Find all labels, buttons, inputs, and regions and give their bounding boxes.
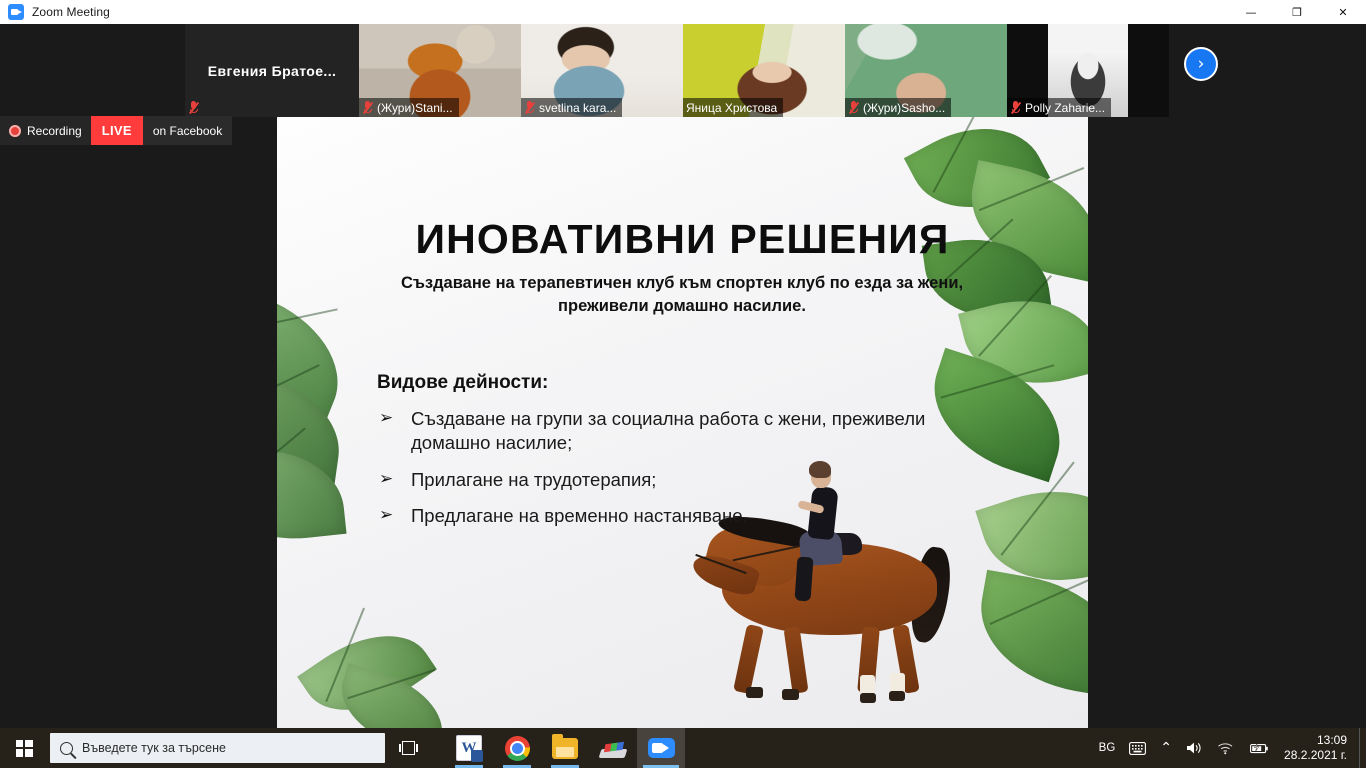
scanner-icon [600,738,626,758]
mic-muted-icon [188,100,199,115]
chevron-right-icon: › [1198,54,1205,74]
meeting-content-area: Евгения Братое... (Жури)Stani... svetlin [0,24,1366,728]
taskbar-app-scanner[interactable] [589,728,637,768]
system-tray: BG ⌃ [1092,728,1366,768]
battery-charging-icon[interactable] [1241,728,1276,768]
language-indicator[interactable]: BG [1092,728,1123,768]
zoom-video-icon [8,4,24,20]
participant-name: Евгения Братое... [185,24,359,117]
record-dot-icon [9,125,21,137]
clock[interactable]: 13:09 28.2.2021 г. [1276,728,1359,768]
wifi-glyph [1217,742,1234,755]
participant-status: (Жури)Sasho... [845,98,951,117]
live-platform-label: on Facebook [143,116,232,145]
live-badge: LIVE [91,116,143,145]
taskbar-app-word[interactable]: W [445,728,493,768]
volume-glyph [1186,741,1203,755]
shared-screen-slide[interactable]: ИНОВАТИВНИ РЕШЕНИЯ Създаване на терапевт… [277,117,1088,728]
file-explorer-icon [552,738,578,759]
list-item-text: Предлагане на временно настаняване. [411,505,748,526]
windows-taskbar: Въведете тук за търсене W [0,728,1366,768]
bullet-arrow-icon: ➢ [379,407,393,429]
battery-glyph [1248,742,1269,755]
slide-subtitle: Създаване на терапевтичен клуб към спорт… [382,272,982,319]
taskbar-app-file-explorer[interactable] [541,728,589,768]
minimize-button[interactable]: — [1228,0,1274,24]
task-view-button[interactable] [385,728,431,768]
participant-status: svetlina kara... [521,98,622,117]
list-item: ➢ Предлагане на временно настаняване. [377,504,937,528]
start-button[interactable] [0,728,48,768]
recording-indicator[interactable]: Recording [0,116,91,145]
participant-tile[interactable]: svetlina kara... [521,24,683,117]
show-desktop-button[interactable] [1359,728,1366,768]
participant-name: Polly Zaharie... [1025,101,1105,115]
mic-muted-icon [524,100,535,115]
taskbar-app-zoom[interactable] [637,728,685,768]
slide-bullet-list: ➢ Създаване на групи за социална работа … [377,407,937,541]
participant-tile[interactable]: (Жури)Stani... [359,24,521,117]
search-placeholder: Въведете тук за търсене [82,741,226,755]
participant-status: (Жури)Stani... [359,98,459,117]
list-item-text: Прилагане на трудотерапия; [411,469,656,490]
window-controls: — ❐ ✕ [1228,0,1366,24]
participant-filmstrip: Евгения Братое... (Жури)Stani... svetlin [0,24,1366,117]
taskbar-app-list: W [445,728,685,768]
zoom-icon [648,738,675,758]
participant-name: svetlina kara... [539,101,616,115]
participant-tile[interactable]: Polly Zaharie... [1007,24,1169,117]
chrome-icon [505,736,530,761]
participant-tile[interactable]: (Жури)Sasho... [845,24,1007,117]
list-item-text: Създаване на групи за социална работа с … [411,408,925,453]
word-icon-letter: W [462,740,477,757]
taskbar-app-chrome[interactable] [493,728,541,768]
next-participants-page-button[interactable]: › [1184,47,1218,81]
recording-label: Recording [27,124,82,138]
mic-muted-icon [1010,100,1021,115]
volume-icon[interactable] [1179,728,1210,768]
mic-muted-icon [848,100,859,115]
slide-section-heading: Видове дейности: [377,372,548,394]
mic-muted-icon [362,100,373,115]
search-icon [60,742,73,755]
close-button[interactable]: ✕ [1320,0,1366,24]
wifi-icon[interactable] [1210,728,1241,768]
clock-time: 13:09 [1317,733,1347,748]
windows-start-icon [16,740,33,757]
task-view-icon [399,741,418,755]
participant-tile[interactable]: Евгения Братое... [185,24,359,117]
participant-name: (Жури)Sasho... [863,101,945,115]
recording-status-bar: Recording LIVE on Facebook [0,116,232,145]
bullet-arrow-icon: ➢ [379,468,393,490]
search-input[interactable]: Въведете тук за търсене [50,733,385,763]
keyboard-icon[interactable] [1122,728,1153,768]
list-item: ➢ Прилагане на трудотерапия; [377,468,937,492]
word-icon: W [456,735,482,761]
participant-name: (Жури)Stani... [377,101,453,115]
clock-date: 28.2.2021 г. [1284,748,1347,763]
slide-title: ИНОВАТИВНИ РЕШЕНИЯ [277,216,1088,263]
list-item: ➢ Създаване на групи за социална работа … [377,407,937,456]
participant-status: Polly Zaharie... [1007,98,1111,117]
participant-name: Яница Христова [686,101,777,115]
participant-status: Яница Христова [683,98,783,117]
keyboard-glyph [1129,742,1146,755]
bullet-arrow-icon: ➢ [379,504,393,526]
window-title-bar: Zoom Meeting — ❐ ✕ [0,0,1366,24]
zoom-meeting-window: Zoom Meeting — ❐ ✕ Евгения Братое... ( [0,0,1366,768]
tray-overflow-button[interactable]: ⌃ [1153,728,1179,768]
restore-button[interactable]: ❐ [1274,0,1320,24]
window-title: Zoom Meeting [32,5,110,19]
participant-status [185,98,205,117]
participant-tile[interactable]: Яница Христова [683,24,845,117]
